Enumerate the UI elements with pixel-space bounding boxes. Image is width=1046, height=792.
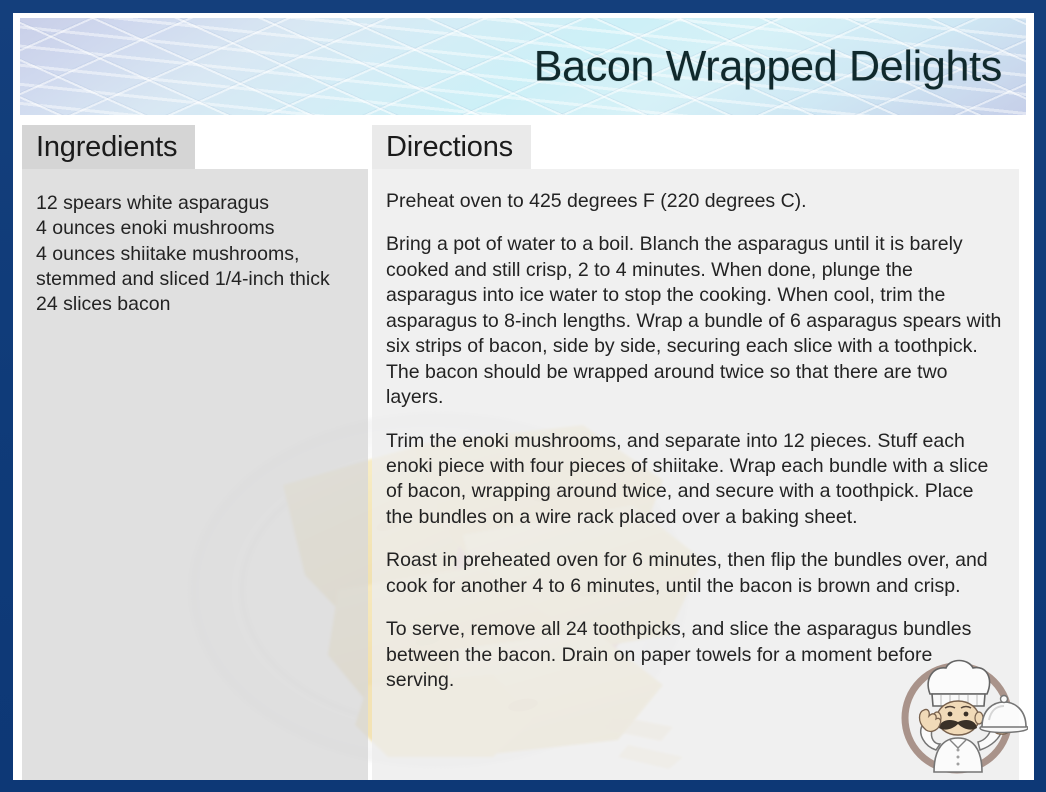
ingredients-heading: Ingredients bbox=[22, 125, 195, 169]
ingredient-item: 4 ounces shiitake mushrooms, bbox=[36, 242, 354, 267]
ingredient-item: stemmed and sliced 1/4-inch thick bbox=[36, 267, 354, 292]
title-banner: Bacon Wrapped Delights bbox=[20, 18, 1026, 115]
direction-step: Trim the enoki mushrooms, and separate i… bbox=[386, 429, 1003, 531]
ingredients-panel: 12 spears white asparagus 4 ounces enoki… bbox=[22, 169, 368, 780]
ingredient-item: 4 ounces enoki mushrooms bbox=[36, 216, 354, 241]
directions-heading: Directions bbox=[372, 125, 531, 169]
ingredients-column: Ingredients 12 spears white asparagus 4 … bbox=[22, 125, 368, 169]
directions-panel: Preheat oven to 425 degrees F (220 degre… bbox=[372, 169, 1019, 780]
ingredient-item: 24 slices bacon bbox=[36, 292, 354, 317]
direction-step: To serve, remove all 24 toothpicks, and … bbox=[386, 617, 1003, 693]
ingredient-item: 12 spears white asparagus bbox=[36, 191, 354, 216]
direction-step: Preheat oven to 425 degrees F (220 degre… bbox=[386, 189, 1003, 214]
direction-step: Bring a pot of water to a boil. Blanch t… bbox=[386, 232, 1003, 410]
directions-column: Directions Preheat oven to 425 degrees F… bbox=[372, 125, 1019, 169]
slide-frame: Bacon Wrapped Delights bbox=[0, 0, 1046, 792]
page-title: Bacon Wrapped Delights bbox=[534, 42, 1002, 91]
direction-step: Roast in preheated oven for 6 minutes, t… bbox=[386, 548, 1003, 599]
slide-canvas: Bacon Wrapped Delights bbox=[13, 13, 1034, 780]
